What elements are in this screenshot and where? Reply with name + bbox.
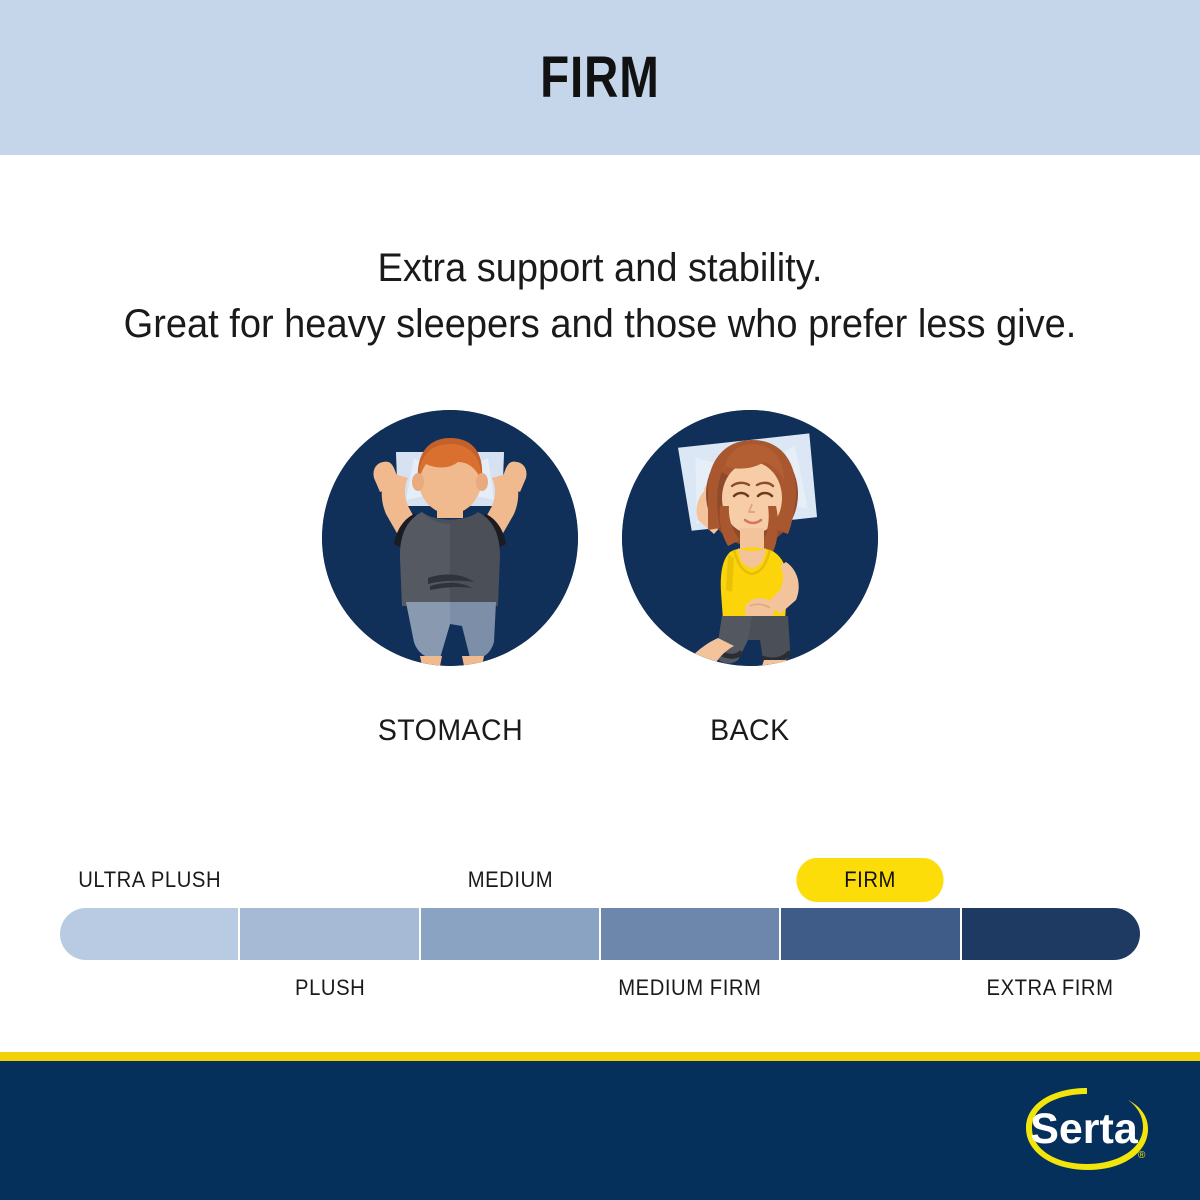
scale-label-cell-2 bbox=[240, 860, 420, 900]
description-line-1: Extra support and stability. bbox=[30, 240, 1170, 296]
registered-trademark-icon: ® bbox=[1138, 1150, 1146, 1161]
description-block: Extra support and stability. Great for h… bbox=[0, 240, 1200, 352]
sleep-positions: STOMACH bbox=[0, 410, 1200, 748]
scale-labels-bottom: PLUSH MEDIUM FIRM EXTRA FIRM bbox=[60, 968, 1140, 1008]
scale-label-cell-b4: MEDIUM FIRM bbox=[600, 968, 780, 1008]
scale-label-extra-firm[interactable]: EXTRA FIRM bbox=[987, 975, 1114, 1001]
scale-label-cell-b5 bbox=[780, 968, 960, 1008]
scale-label-firm-active[interactable]: FIRM bbox=[796, 858, 943, 902]
scale-segment-extra-firm[interactable] bbox=[962, 908, 1140, 960]
position-label-stomach: STOMACH bbox=[377, 714, 522, 748]
position-label-back: BACK bbox=[710, 714, 790, 748]
scale-segment-medium-firm[interactable] bbox=[601, 908, 781, 960]
stomach-sleeper-circle bbox=[322, 410, 578, 666]
scale-segment-firm[interactable] bbox=[781, 908, 961, 960]
scale-label-cell-b2: PLUSH bbox=[240, 968, 420, 1008]
serta-logo-icon: Serta ® bbox=[1012, 1076, 1162, 1186]
footer-accent-stripe bbox=[0, 1052, 1200, 1061]
position-back: BACK bbox=[622, 410, 878, 748]
scale-label-cell-4 bbox=[600, 860, 780, 900]
scale-label-cell-5: FIRM bbox=[780, 860, 960, 900]
scale-label-medium-firm[interactable]: MEDIUM FIRM bbox=[618, 975, 761, 1001]
scale-label-cell-3: MEDIUM bbox=[420, 860, 600, 900]
scale-label-plush[interactable]: PLUSH bbox=[295, 975, 365, 1001]
scale-label-ultra-plush[interactable]: ULTRA PLUSH bbox=[79, 867, 222, 893]
back-sleeper-circle bbox=[622, 410, 878, 666]
scale-bar bbox=[60, 908, 1140, 960]
serta-logo[interactable]: Serta ® bbox=[1012, 1076, 1162, 1186]
back-sleeper-icon bbox=[622, 410, 878, 666]
scale-label-cell-6 bbox=[960, 860, 1140, 900]
scale-label-medium[interactable]: MEDIUM bbox=[467, 867, 552, 893]
scale-label-cell-b3 bbox=[420, 968, 600, 1008]
serta-wordmark: Serta bbox=[1030, 1105, 1139, 1153]
position-stomach: STOMACH bbox=[322, 410, 578, 748]
scale-labels-top: ULTRA PLUSH MEDIUM FIRM bbox=[60, 860, 1140, 900]
description-line-2: Great for heavy sleepers and those who p… bbox=[30, 296, 1170, 352]
stomach-sleeper-icon bbox=[322, 410, 578, 666]
scale-label-cell-1: ULTRA PLUSH bbox=[60, 860, 240, 900]
scale-segment-medium[interactable] bbox=[421, 908, 601, 960]
page-title: FIRM bbox=[540, 44, 660, 111]
scale-label-cell-b6: EXTRA FIRM bbox=[960, 968, 1140, 1008]
firmness-scale: ULTRA PLUSH MEDIUM FIRM PLUSH MEDIUM FIR… bbox=[60, 860, 1140, 1010]
scale-segment-plush[interactable] bbox=[240, 908, 420, 960]
page-header: FIRM bbox=[0, 0, 1200, 155]
scale-segment-ultra-plush[interactable] bbox=[60, 908, 240, 960]
scale-label-cell-b1 bbox=[60, 968, 240, 1008]
